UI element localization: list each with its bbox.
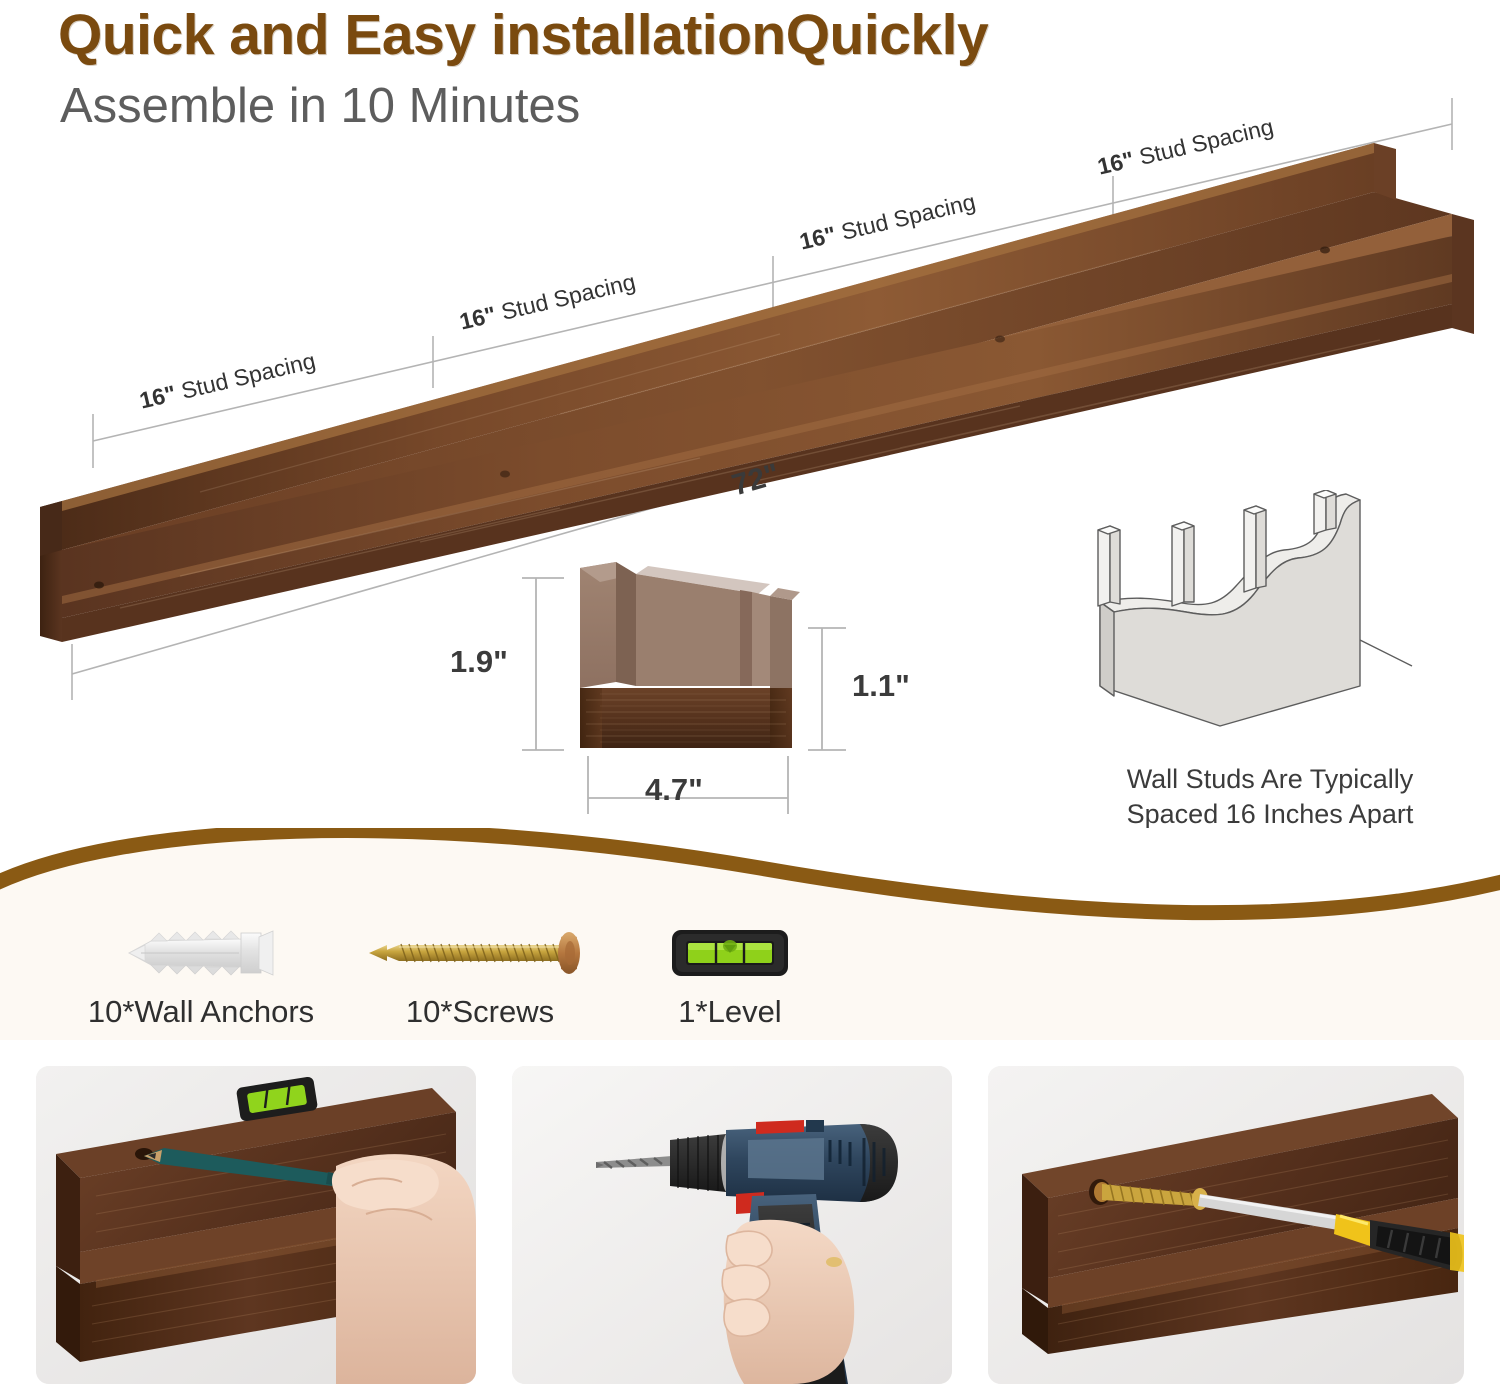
wall-stud-1 [1098,526,1120,606]
drill-panel [748,1138,824,1180]
accessory-item-wall-anchors: 10*Wall Anchors [56,916,346,1030]
wall-stud-4 [1314,490,1336,534]
wall-studs-diagram: Wall Studs Are Typically Spaced 16 Inche… [1060,490,1480,860]
wall-anchor-icon [111,925,291,981]
wall-studs-caption-line2: Spaced 16 Inches Apart [1060,797,1480,832]
wall-studs-caption-line1: Wall Studs Are Typically [1060,762,1480,797]
installation-photo-strip [0,1046,1500,1384]
screw-art [340,916,620,990]
photo-mark-holes [36,1066,476,1384]
shelf-profile-diagram: 1.9" 1.1" 4.7" [440,560,1060,860]
accessory-label-level: 1*Level [600,994,860,1030]
photo-fasten-screw [988,1066,1464,1384]
screw-icon [365,927,595,979]
wall-studs-illustration [1060,490,1480,770]
photo-drill-wall-art [512,1066,952,1384]
accessory-label-wall-anchors: 10*Wall Anchors [56,994,346,1030]
forward-reverse-switch [756,1120,804,1134]
accessories-list: 10*Wall Anchors [0,828,1500,1040]
wall-studs-caption: Wall Studs Are Typically Spaced 16 Inche… [1060,762,1480,832]
accessory-item-screws: 10*Screws [340,916,620,1030]
shelf-right-endcap [1374,143,1396,200]
accessories-band: 10*Wall Anchors [0,828,1500,1040]
profile-lip-height-label: 1.1" [852,668,910,704]
finger-ring [826,1257,842,1267]
mounting-hole [1320,247,1330,254]
wall-stud-2 [1172,522,1194,606]
profile-depth-label: 4.7" [645,772,703,808]
product-infographic: Quick and Easy installationQuickly Assem… [0,0,1500,1384]
profile-height-label: 1.9" [450,644,508,680]
accessory-label-screws: 10*Screws [340,994,620,1030]
photo-fasten-screw-art [988,1066,1464,1384]
wall-anchor-art [56,916,346,990]
bubble-level-icon [668,924,792,982]
mounting-hole [995,336,1005,343]
profile-front-lip [770,596,792,688]
photo-drill-wall [512,1066,952,1384]
page-title: Quick and Easy installationQuickly [58,2,988,68]
wall-stud-3 [1244,506,1266,592]
mounting-hole [500,471,510,478]
accessory-item-level: 1*Level [600,916,860,1030]
photo-mark-holes-art [36,1066,476,1384]
mounting-hole [94,582,104,589]
shelf-cross-section [440,560,1060,860]
level-art [600,916,860,990]
